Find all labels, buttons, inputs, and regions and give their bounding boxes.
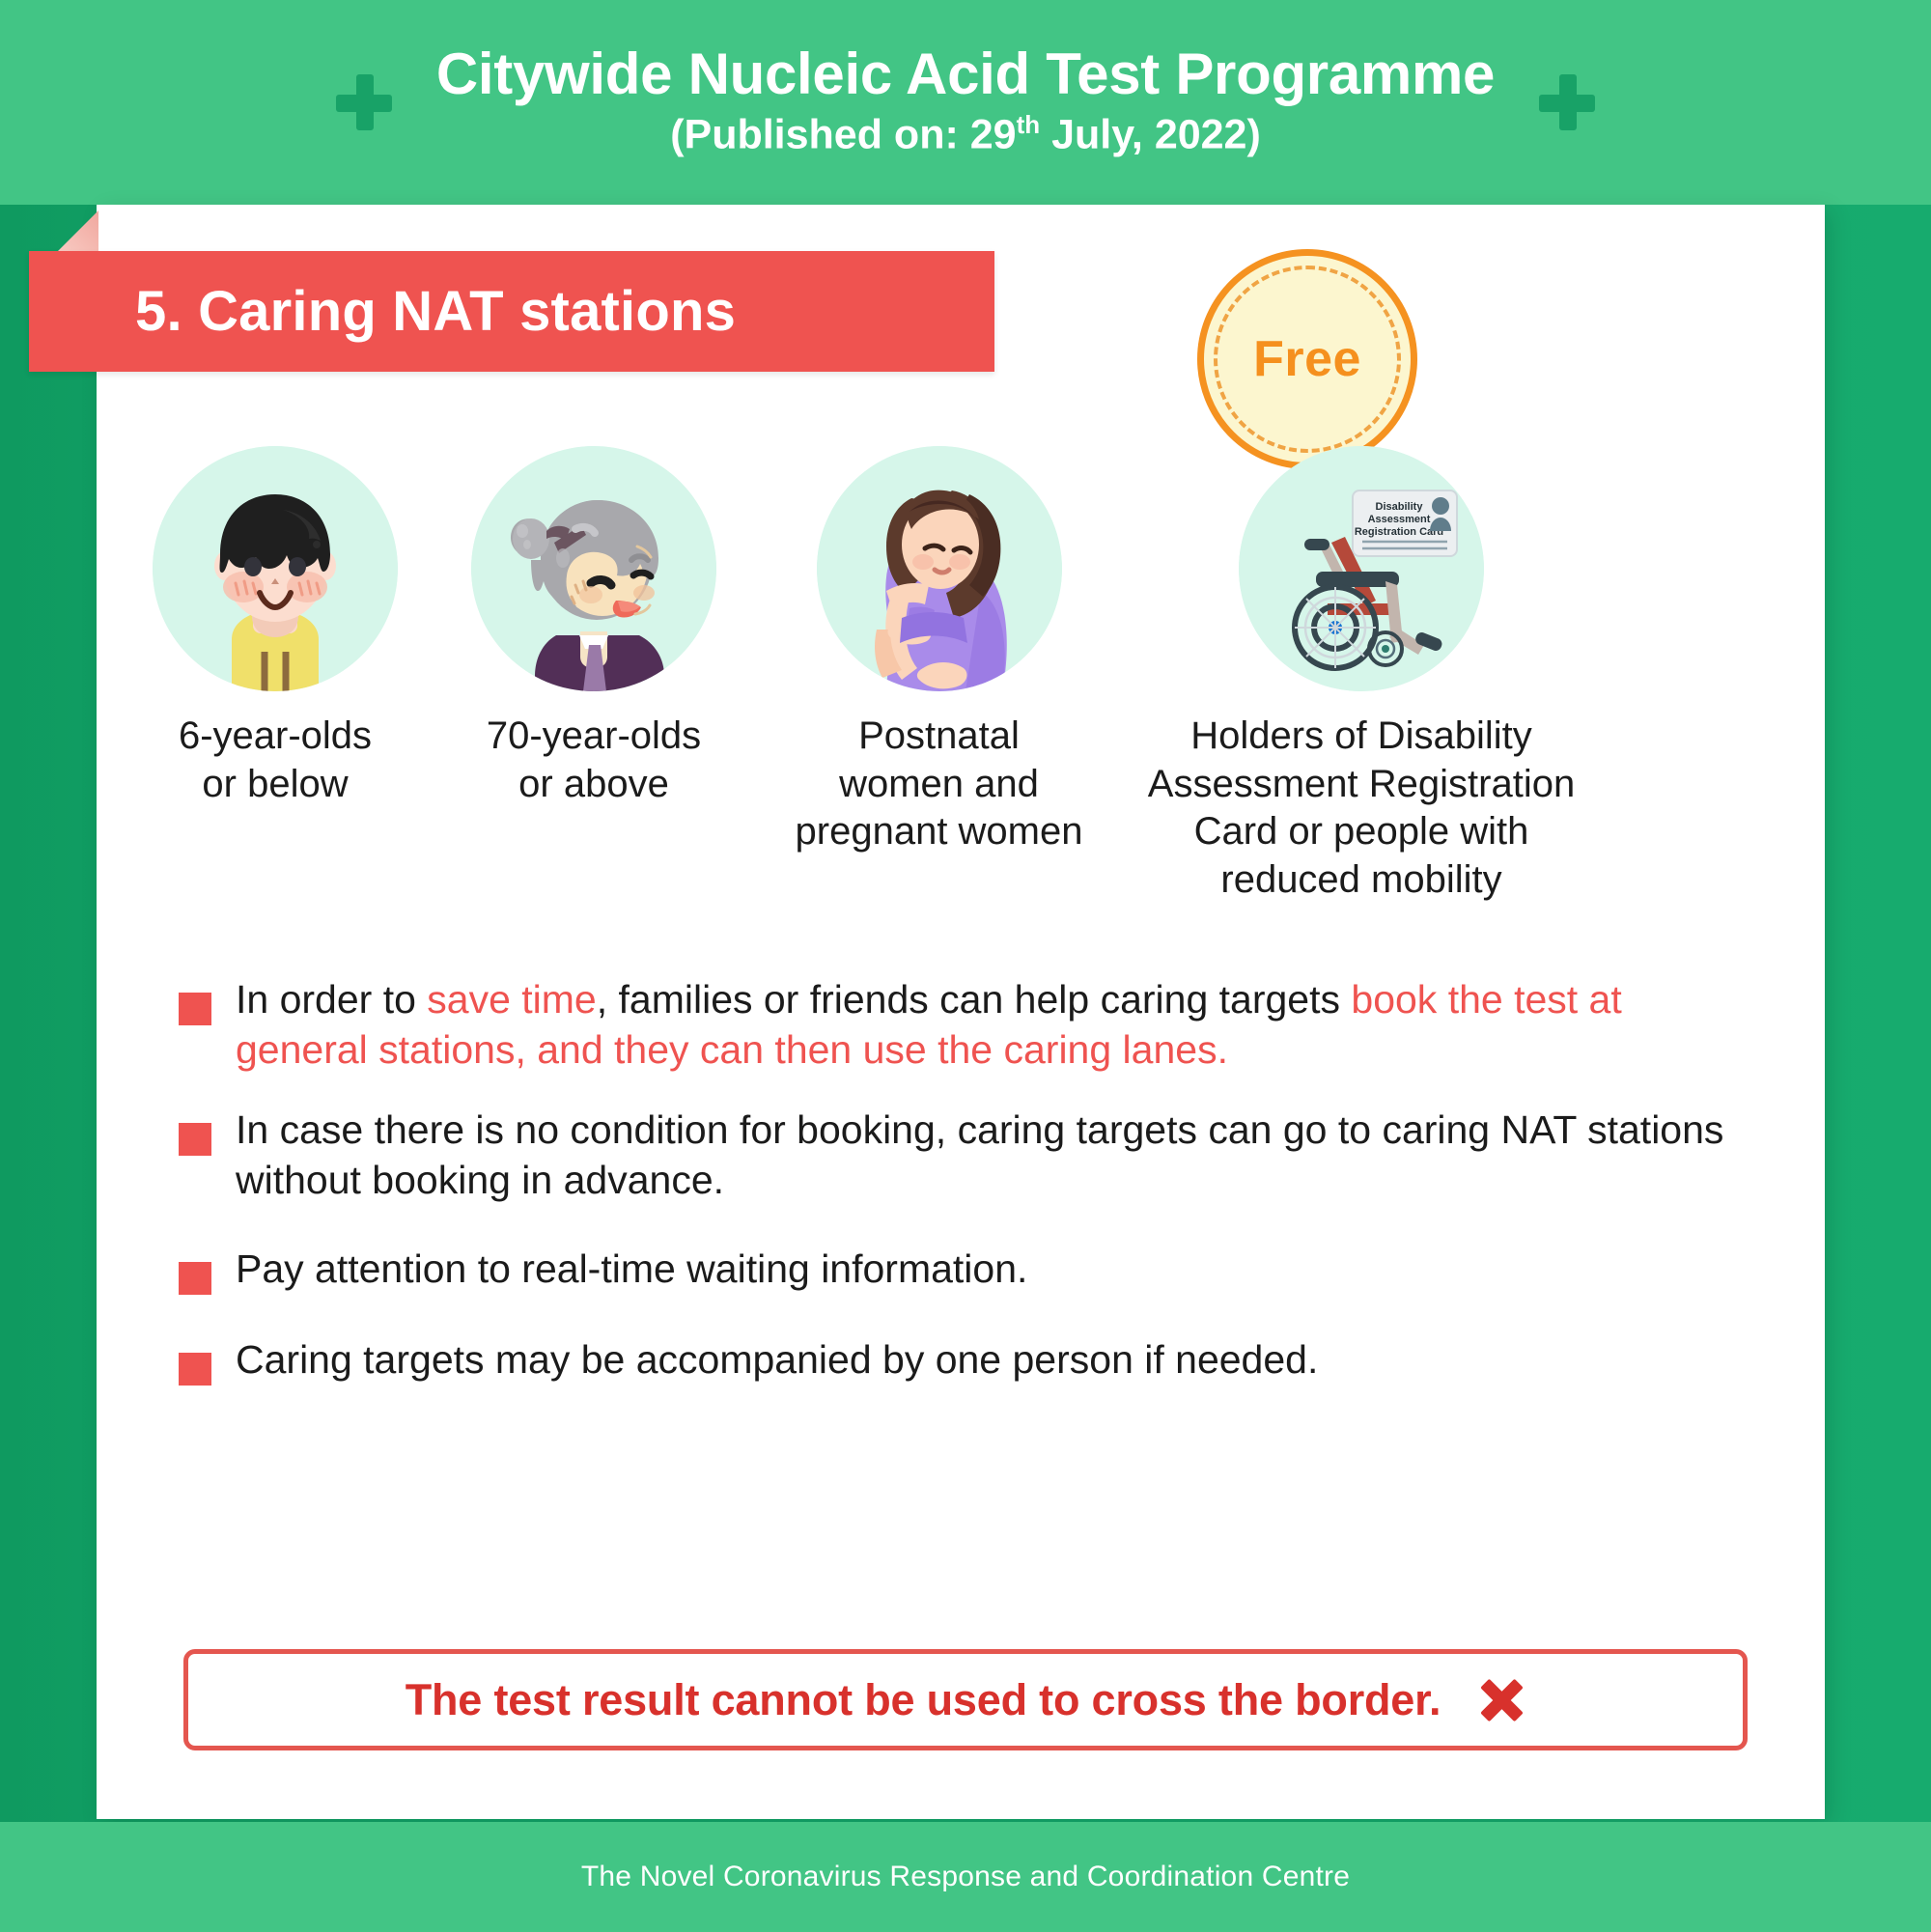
target-caption: Holders of Disability Assessment Registr… bbox=[1148, 713, 1575, 904]
bullet-marker-icon bbox=[179, 1262, 211, 1295]
bullet-list: In order to save time, families or frien… bbox=[179, 975, 1743, 1386]
bullet-text: Caring targets may be accompanied by one… bbox=[236, 1335, 1318, 1386]
boy-avatar-icon bbox=[153, 446, 398, 691]
bullet-marker-icon bbox=[179, 1353, 211, 1386]
bullet-item: In order to save time, families or frien… bbox=[179, 975, 1743, 1075]
free-badge: Free bbox=[1197, 249, 1417, 469]
publication-date: (Published on: 29th July, 2022) bbox=[436, 109, 1495, 161]
svg-text:Assessment: Assessment bbox=[1368, 514, 1431, 525]
target-group-disability: Disability Assessment Registration Card bbox=[1115, 446, 1608, 904]
poster-footer: The Novel Coronavirus Response and Coord… bbox=[0, 1822, 1931, 1932]
target-group-children: 6-year-olds or below bbox=[126, 446, 425, 808]
bullet-item: Caring targets may be accompanied by one… bbox=[179, 1335, 1743, 1386]
bullet-text: Pay attention to real-time waiting infor… bbox=[236, 1245, 1027, 1295]
pregnant-woman-avatar-icon bbox=[817, 446, 1062, 691]
target-group-elderly: 70-year-olds or above bbox=[425, 446, 763, 808]
infographic-poster: Citywide Nucleic Acid Test Programme (Pu… bbox=[0, 0, 1931, 1932]
publication-date-prefix: (Published on: 29 bbox=[670, 112, 1016, 158]
medical-cross-icon-left bbox=[336, 74, 392, 130]
target-caption: 6-year-olds or below bbox=[179, 713, 372, 808]
publication-date-ordinal: th bbox=[1017, 110, 1041, 139]
bullet-item: Pay attention to real-time waiting infor… bbox=[179, 1245, 1743, 1295]
target-caption: 70-year-olds or above bbox=[487, 713, 701, 808]
bullet-segment-highlight: save time bbox=[427, 977, 596, 1022]
target-caption: Postnatal women and pregnant women bbox=[796, 713, 1083, 856]
caring-target-groups: 6-year-olds or below bbox=[126, 446, 1767, 904]
section-title: 5. Caring NAT stations bbox=[29, 279, 736, 344]
x-mark-icon bbox=[1477, 1676, 1525, 1724]
target-group-pregnant: Postnatal women and pregnant women bbox=[763, 446, 1115, 856]
section-ribbon: 5. Caring NAT stations bbox=[29, 251, 994, 372]
bullet-text: In order to save time, families or frien… bbox=[236, 975, 1743, 1075]
page-title: Citywide Nucleic Acid Test Programme bbox=[436, 43, 1495, 106]
wheelchair-disability-card-icon: Disability Assessment Registration Card bbox=[1239, 446, 1484, 691]
bullet-marker-icon bbox=[179, 1123, 211, 1156]
free-badge-label: Free bbox=[1253, 330, 1361, 388]
bullet-segment: , families or friends can help caring ta… bbox=[597, 977, 1352, 1022]
border-crossing-warning: The test result cannot be used to cross … bbox=[183, 1649, 1748, 1750]
bullet-item: In case there is no condition for bookin… bbox=[179, 1106, 1743, 1205]
warning-text: The test result cannot be used to cross … bbox=[406, 1675, 1441, 1725]
publication-date-suffix: July, 2022) bbox=[1040, 112, 1261, 158]
medical-cross-icon-right bbox=[1539, 74, 1595, 130]
bullet-text: In case there is no condition for bookin… bbox=[236, 1106, 1743, 1205]
svg-text:Disability: Disability bbox=[1376, 501, 1424, 513]
elderly-woman-avatar-icon bbox=[471, 446, 716, 691]
bullet-marker-icon bbox=[179, 993, 211, 1025]
bullet-segment: In order to bbox=[236, 977, 427, 1022]
footer-text: The Novel Coronavirus Response and Coord… bbox=[581, 1861, 1350, 1893]
poster-header: Citywide Nucleic Acid Test Programme (Pu… bbox=[0, 0, 1931, 205]
